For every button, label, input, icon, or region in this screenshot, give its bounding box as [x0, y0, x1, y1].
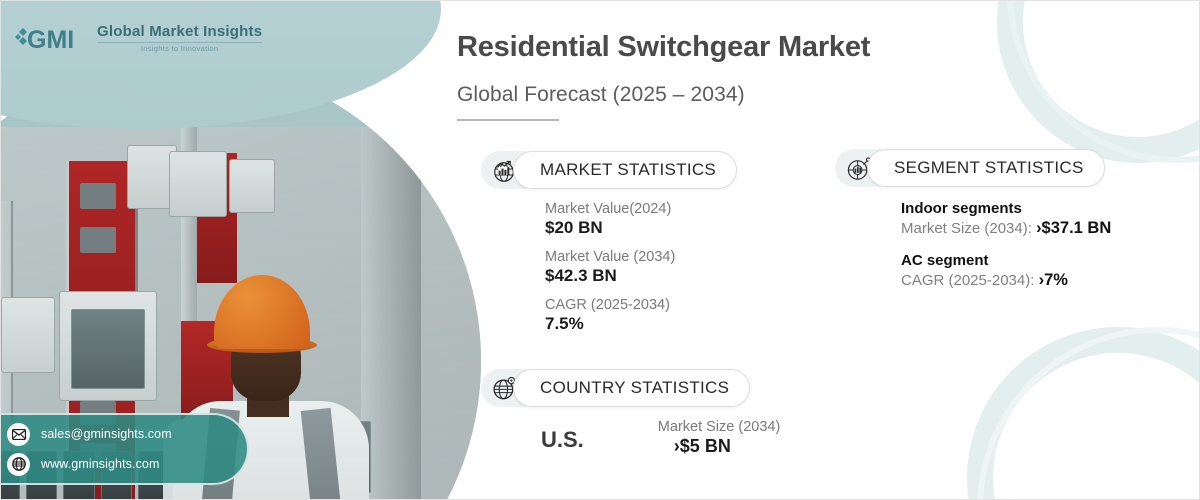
market-stat-value: 7.5%: [545, 314, 675, 334]
segment-statistics-list: Indoor segments Market Size (2034): ›$37…: [901, 200, 1111, 304]
segment-title: Indoor segments: [901, 200, 1111, 217]
svg-text:GMI: GMI: [27, 26, 74, 53]
country-stat-label: Market Size (2034): [658, 419, 781, 435]
segment-metric-label: CAGR (2025-2034):: [901, 272, 1039, 289]
segment-statistics-header[interactable]: SEGMENT STATISTICS: [835, 149, 1105, 187]
envelope-icon: [7, 423, 30, 446]
segment-statistics-label: SEGMENT STATISTICS: [867, 149, 1105, 187]
gmi-logo-mark-icon: GMI: [15, 23, 89, 53]
infographic-banner: GMI Global Market Insights Insights to I…: [0, 0, 1200, 500]
gmi-logo-text: Global Market Insights Insights to Innov…: [97, 24, 262, 53]
gmi-company-name: Global Market Insights: [97, 24, 262, 39]
gmi-tagline: Insights to Innovation: [97, 45, 262, 53]
segment-stat-item: AC segment CAGR (2025-2034): ›7%: [901, 252, 1111, 290]
contact-email-row[interactable]: sales@gminsights.com: [7, 423, 247, 446]
gmi-logo[interactable]: GMI Global Market Insights Insights to I…: [15, 23, 262, 53]
country-statistics-label: COUNTRY STATISTICS: [513, 369, 750, 407]
title-underline: [457, 119, 559, 121]
market-stat-value: $20 BN: [545, 218, 675, 238]
country-name: U.S.: [541, 427, 584, 453]
segment-metric-value: ›$37.1 BN: [1036, 219, 1111, 237]
market-statistics-header[interactable]: MARKET STATISTICS: [481, 151, 737, 189]
segment-metric-row: CAGR (2025-2034): ›7%: [901, 271, 1111, 290]
globe-icon: [7, 453, 30, 476]
market-stat-item: CAGR (2025-2034) 7.5%: [545, 297, 675, 334]
contact-website-row[interactable]: www.gminsights.com: [7, 453, 247, 476]
gmi-logo-divider: [97, 42, 262, 43]
country-statistics-body: U.S. Market Size (2034) ›$5 BN: [541, 419, 780, 468]
content-area: Residential Switchgear Market Global For…: [453, 1, 1200, 500]
market-statistics-label: MARKET STATISTICS: [513, 151, 737, 189]
page-subtitle: Global Forecast (2025 – 2034): [457, 83, 745, 107]
segment-stat-item: Indoor segments Market Size (2034): ›$37…: [901, 200, 1111, 238]
market-statistics-list: Market Value(2024) $20 BN Market Value (…: [545, 201, 675, 345]
contact-website-text: www.gminsights.com: [41, 457, 160, 471]
contact-email-text: sales@gminsights.com: [41, 427, 172, 441]
segment-metric-label: Market Size (2034):: [901, 220, 1036, 237]
market-stat-item: Market Value (2034) $42.3 BN: [545, 249, 675, 286]
segment-title: AC segment: [901, 252, 1111, 269]
segment-metric-value: ›7%: [1039, 271, 1068, 289]
country-stat-value: ›$5 BN: [674, 436, 781, 457]
market-stat-item: Market Value(2024) $20 BN: [545, 201, 675, 238]
country-stat-item: Market Size (2034) ›$5 BN: [658, 419, 781, 468]
market-stat-label: CAGR (2025-2034): [545, 297, 675, 313]
country-statistics-header[interactable]: COUNTRY STATISTICS: [481, 369, 750, 407]
market-stat-value: $42.3 BN: [545, 266, 675, 286]
segment-metric-row: Market Size (2034): ›$37.1 BN: [901, 219, 1111, 238]
market-stat-label: Market Value (2034): [545, 249, 675, 265]
page-title: Residential Switchgear Market: [457, 31, 870, 64]
market-stat-label: Market Value(2024): [545, 201, 675, 217]
contact-bar: sales@gminsights.com www.gminsights.com: [0, 413, 249, 485]
